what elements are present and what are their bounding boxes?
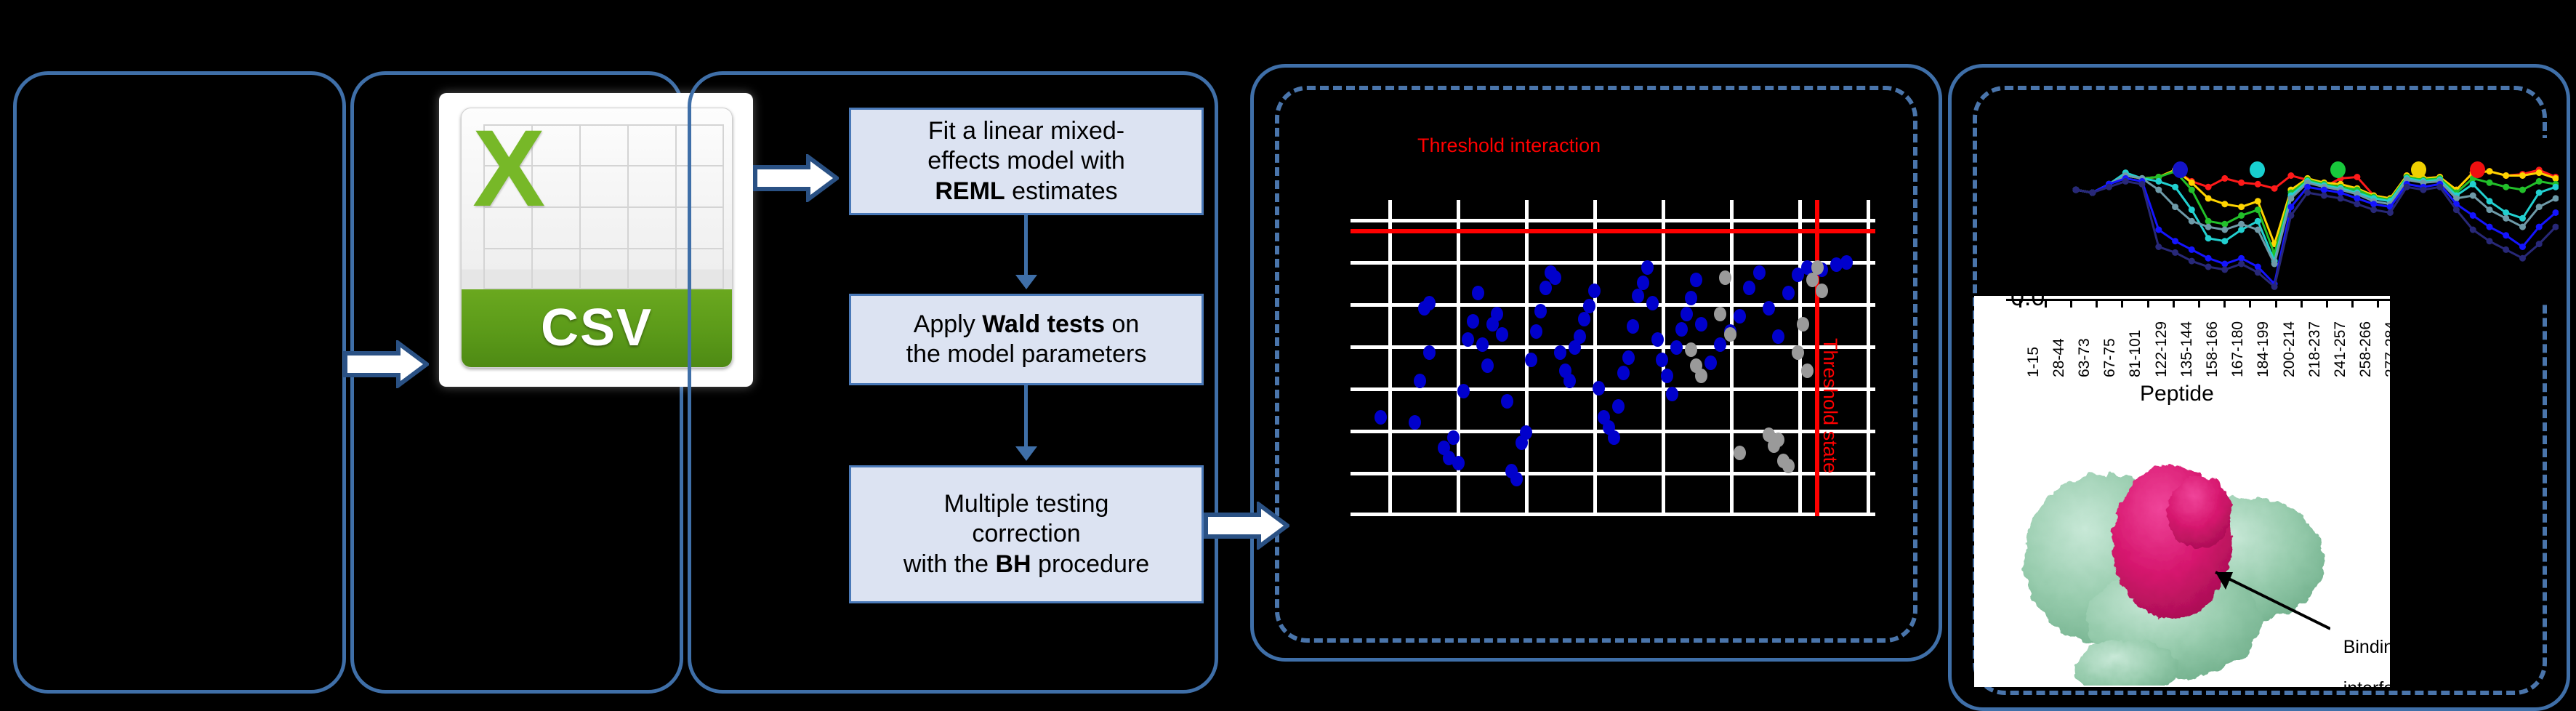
- line-marker: [2470, 193, 2476, 199]
- axis-tick-label: 184-199: [2255, 321, 2272, 377]
- line-marker: [2370, 201, 2377, 207]
- connector-2: [1024, 385, 1028, 448]
- scatter-point: [1670, 340, 1683, 355]
- legend-dot-yellow: [2411, 161, 2426, 178]
- line-marker: [2139, 181, 2146, 188]
- line-marker: [2205, 264, 2212, 270]
- line-marker: [2271, 185, 2278, 192]
- scatter-point: [1840, 255, 1853, 270]
- csv-format-label: CSV: [541, 298, 653, 358]
- scatter-point: [1622, 350, 1635, 365]
- scatter-point: [1666, 387, 1678, 401]
- line-marker: [2221, 227, 2228, 233]
- scatter-point: [1661, 369, 1673, 383]
- line-marker: [2189, 246, 2195, 253]
- line-marker: [2255, 269, 2261, 276]
- threshold-state-label: Threshold state: [1819, 338, 1841, 473]
- line-marker: [2255, 206, 2261, 213]
- scatter-point: [1690, 273, 1702, 287]
- scatter-point: [1772, 329, 1784, 344]
- scatter-point: [1496, 327, 1508, 342]
- line-marker: [2155, 187, 2162, 193]
- scatter-point: [1734, 446, 1746, 460]
- scatter-point: [1675, 322, 1688, 337]
- line-marker: [2205, 255, 2212, 262]
- scatter-point: [1714, 337, 1726, 352]
- axis-tick-label: 81-101: [2127, 330, 2144, 377]
- line-marker: [2536, 204, 2543, 210]
- scatter-point: [1472, 286, 1484, 300]
- scatter-point: [1409, 415, 1421, 430]
- line-marker: [2519, 244, 2526, 250]
- line-marker: [2287, 212, 2294, 219]
- protein-structure-image: [2018, 411, 2330, 686]
- scatter-point: [1681, 307, 1693, 321]
- threshold-interaction-line: [1351, 229, 1875, 233]
- scatter-point: [1510, 472, 1523, 486]
- line-marker: [2503, 209, 2509, 216]
- line-marker: [2503, 232, 2509, 238]
- line-marker: [2470, 181, 2476, 188]
- line-marker: [2255, 218, 2261, 225]
- scatter-point: [1656, 353, 1668, 367]
- line-marker: [2155, 227, 2162, 233]
- line-marker: [2487, 168, 2493, 174]
- line-marker: [2387, 209, 2394, 216]
- line-marker: [2503, 184, 2509, 190]
- scatter-point: [1695, 369, 1707, 383]
- line-marker: [2503, 172, 2509, 179]
- line-marker: [2487, 224, 2493, 230]
- y-axis-tick-label: 0.0: [2011, 284, 2045, 312]
- line-marker: [2354, 201, 2360, 207]
- scatter-point: [1452, 456, 1465, 470]
- scatter-point: [1753, 265, 1766, 280]
- arrow-into-input: [343, 340, 429, 388]
- step-fit-model-box[interactable]: Fit a linear mixed- effects model with R…: [849, 108, 1204, 215]
- scatter-point: [1593, 381, 1605, 395]
- scatter-point: [1608, 430, 1620, 445]
- line-marker: [2287, 195, 2294, 201]
- binding-interface-annotation: Binding interface: [2313, 616, 2390, 687]
- scatter-point: [1549, 270, 1561, 285]
- line-marker: [2238, 180, 2245, 186]
- arrow-data-to-analysis: [753, 154, 839, 202]
- scatter-point: [1414, 374, 1426, 388]
- legend-dot-blue: [2173, 161, 2188, 178]
- line-marker: [2189, 187, 2195, 193]
- line-marker: [2487, 206, 2493, 213]
- step-fit-model-text: Fit a linear mixed- effects model with R…: [922, 116, 1131, 206]
- threshold-interaction-label: Threshold interaction: [1417, 134, 1601, 157]
- line-marker: [2287, 172, 2294, 179]
- line-marker: [2189, 218, 2195, 225]
- axis-tick-label: 258-266: [2357, 321, 2375, 377]
- line-marker: [2519, 215, 2526, 222]
- line-marker: [2354, 174, 2360, 180]
- line-marker: [2304, 190, 2311, 196]
- scatter-point: [1811, 260, 1824, 275]
- axis-tick-label: 277-284: [2383, 321, 2390, 377]
- connector-1: [1024, 215, 1028, 276]
- line-marker: [2205, 195, 2212, 201]
- peptide-axis-title: Peptide: [2140, 382, 2214, 406]
- line-marker: [2238, 255, 2245, 262]
- line-marker: [2221, 261, 2228, 268]
- step-multiple-testing-text: Multiple testing correction with the BH …: [898, 489, 1155, 579]
- scatter-point: [1763, 301, 1775, 316]
- line-marker: [2271, 284, 2278, 290]
- scatter-point: [1491, 307, 1503, 321]
- scatter-point: [1646, 296, 1659, 310]
- line-marker: [2221, 175, 2228, 182]
- scatter-point: [1563, 374, 1576, 388]
- line-marker: [2420, 187, 2426, 193]
- scatter-point: [1457, 384, 1470, 398]
- scatter-point: [1641, 260, 1654, 275]
- line-marker: [2205, 224, 2212, 230]
- line-marker: [2453, 206, 2460, 213]
- line-marker: [2404, 184, 2410, 190]
- line-marker: [2338, 190, 2344, 196]
- scatter-point: [1534, 304, 1547, 318]
- scatter-point: [1462, 332, 1474, 347]
- line-marker: [2271, 261, 2278, 268]
- scatter-point: [1530, 324, 1542, 339]
- line-marker: [2205, 235, 2212, 241]
- scatter-point: [1734, 309, 1746, 324]
- line-marker: [2221, 201, 2228, 207]
- line-marker: [2221, 266, 2228, 273]
- line-marker: [2536, 178, 2543, 185]
- step-multiple-testing-box[interactable]: Multiple testing correction with the BH …: [849, 465, 1204, 603]
- axis-tick-label: 200-214: [2281, 321, 2298, 377]
- line-marker: [2536, 169, 2543, 176]
- line-marker: [2172, 249, 2178, 256]
- line-marker: [2073, 187, 2080, 193]
- axis-tick-label: 218-237: [2306, 321, 2324, 377]
- line-marker: [2255, 227, 2261, 233]
- line-marker: [2503, 246, 2509, 253]
- axis-tick-label: 158-166: [2204, 321, 2221, 377]
- line-marker: [2089, 190, 2096, 196]
- line-marker: [2106, 184, 2112, 190]
- line-marker: [2354, 195, 2360, 201]
- line-marker: [2238, 261, 2245, 268]
- scatter-point: [1612, 399, 1625, 414]
- axis-tick-label: 63-73: [2076, 338, 2093, 377]
- line-marker: [2155, 244, 2162, 250]
- scatter-point: [1476, 337, 1489, 352]
- axis-tick-label: 1-15: [2025, 347, 2042, 377]
- scatter-point: [1574, 329, 1586, 344]
- line-marker: [2370, 206, 2377, 213]
- axis-tick-label: 241-257: [2332, 321, 2349, 377]
- scatter-point: [1525, 353, 1537, 367]
- arrow-analysis-to-threshold: [1204, 502, 1289, 550]
- line-marker: [2221, 238, 2228, 244]
- line-marker: [2519, 255, 2526, 262]
- scatter-point: [1695, 317, 1707, 332]
- flow-diagram-canvas: X CSV Fit a linear mixed- effects model …: [0, 0, 2576, 687]
- line-marker: [2205, 218, 2212, 225]
- line-marker: [2487, 180, 2493, 186]
- axis-tick-label: 67-75: [2101, 338, 2119, 377]
- line-marker: [2155, 178, 2162, 185]
- scatter-point: [1588, 284, 1601, 298]
- line-marker: [2519, 172, 2526, 179]
- scatter-point: [1743, 281, 1755, 295]
- line-marker: [2255, 198, 2261, 204]
- line-marker: [2321, 193, 2327, 199]
- line-marker: [2172, 238, 2178, 244]
- scatter-point: [1617, 366, 1630, 380]
- scatter-point: [1685, 342, 1697, 357]
- scatter-point: [1782, 459, 1795, 473]
- scatter-point: [1374, 410, 1387, 425]
- line-marker: [2436, 184, 2443, 190]
- line-marker: [2487, 198, 2493, 204]
- line-marker: [2536, 190, 2543, 196]
- line-marker: [2470, 212, 2476, 219]
- connector-1-arrowhead: [1015, 275, 1037, 289]
- line-marker: [2238, 212, 2245, 219]
- step-wald-tests-box[interactable]: Apply Wald tests on the model parameters: [849, 294, 1204, 385]
- excel-x-letter: X: [472, 113, 591, 233]
- line-marker: [2321, 187, 2327, 193]
- line-marker: [2503, 215, 2509, 222]
- connector-2-arrowhead: [1015, 446, 1037, 461]
- scatter-point: [1632, 289, 1644, 303]
- scatter-point: [1481, 358, 1494, 373]
- line-marker: [2304, 184, 2311, 190]
- line-marker: [2238, 221, 2245, 228]
- line-marker: [2255, 181, 2261, 188]
- scatter-point: [1520, 425, 1532, 440]
- scatter-point: [1816, 284, 1828, 298]
- legend-dot-green: [2330, 161, 2346, 178]
- legend-dot-cyan: [2250, 161, 2265, 178]
- scatter-point: [1792, 345, 1804, 360]
- scatter-point: [1583, 299, 1595, 313]
- line-marker: [2189, 180, 2195, 186]
- scatter-point: [1501, 394, 1513, 409]
- scatter-point: [1554, 345, 1566, 360]
- line-marker: [2519, 224, 2526, 230]
- scatter-point: [1704, 355, 1717, 370]
- line-marker: [2205, 184, 2212, 190]
- axis-tick-label: 122-129: [2153, 321, 2170, 377]
- scatter-point: [1719, 270, 1731, 285]
- line-marker: [2470, 227, 2476, 233]
- line-marker: [2238, 227, 2245, 233]
- line-marker: [2519, 187, 2526, 193]
- step-wald-tests-text: Apply Wald tests on the model parameters: [901, 310, 1153, 370]
- line-marker: [2238, 204, 2245, 210]
- line-marker: [2287, 204, 2294, 210]
- scatter-point: [1782, 286, 1795, 300]
- line-marker: [2338, 195, 2344, 201]
- panel-input: [13, 71, 346, 694]
- legend-dot-red: [2470, 161, 2485, 178]
- line-marker: [2255, 264, 2261, 270]
- results-white-inset: 1-1528-4463-7367-7581-101122-129135-1441…: [1974, 296, 2390, 687]
- scatter-point: [1797, 317, 1809, 332]
- line-series-t-cyan: [2076, 173, 2556, 262]
- scatter-point: [1627, 319, 1639, 334]
- line-marker: [2172, 204, 2178, 210]
- scatter-point: [1467, 314, 1479, 329]
- scatter-point: [1637, 276, 1649, 290]
- scatter-point: [1801, 363, 1814, 378]
- scatter-point: [1423, 345, 1436, 360]
- scatter-point: [1714, 307, 1726, 321]
- line-marker: [2122, 178, 2129, 185]
- line-marker: [2536, 241, 2543, 247]
- threshold-scatter-plot: [1351, 200, 1875, 516]
- scatter-point: [1578, 312, 1590, 326]
- line-marker: [2536, 224, 2543, 230]
- scatter-point: [1423, 296, 1436, 310]
- line-marker: [2172, 184, 2178, 190]
- axis-tick-label: 135-144: [2178, 321, 2196, 377]
- axis-tick-label: 167-180: [2229, 321, 2247, 377]
- line-marker: [2189, 258, 2195, 265]
- line-marker: [2189, 206, 2195, 213]
- scatter-point: [1724, 327, 1736, 342]
- line-marker: [2221, 221, 2228, 228]
- scatter-point: [1772, 433, 1784, 447]
- axis-tick-label: 28-44: [2050, 338, 2068, 377]
- line-marker: [2487, 238, 2493, 244]
- scatter-point: [1651, 332, 1664, 347]
